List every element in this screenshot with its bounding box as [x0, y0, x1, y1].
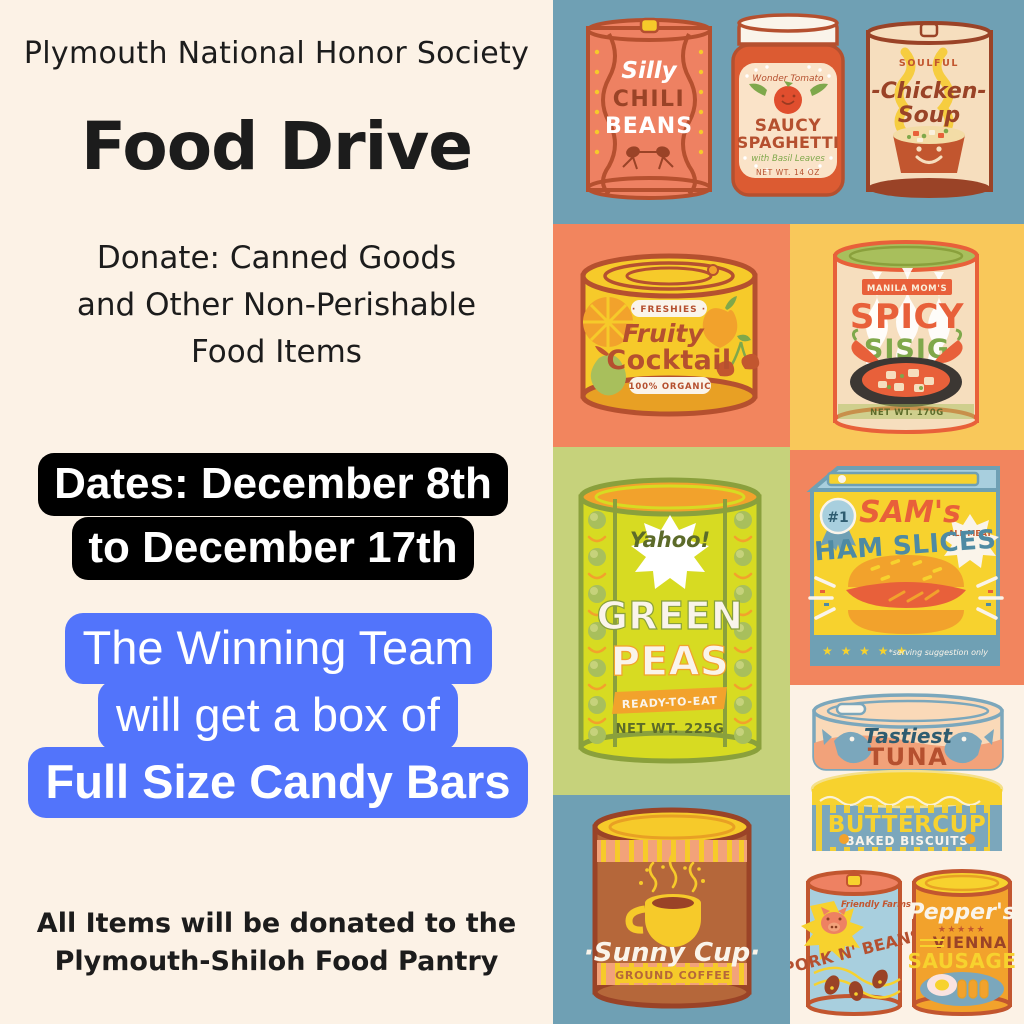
can-label-sausage: SAUSAGE	[908, 949, 1017, 973]
panel-coffee-illustration: ·Sunny Cup· GROUND COFFEE	[553, 795, 790, 1024]
can-label-silly: Silly	[621, 58, 677, 84]
can-label-ground-coffee: GROUND COFFEE	[615, 969, 731, 982]
can-label-disclaimer: *serving suggestion only	[889, 648, 989, 657]
sizzling-plate-icon	[850, 357, 962, 407]
can-spicy-sisig: MANILA MOM'S SPICY SISIG	[835, 242, 977, 432]
can-label-freshies: · FRESHIES ·	[632, 305, 706, 315]
can-sunny-cup-coffee: ·Sunny Cup· GROUND COFFEE	[584, 810, 760, 1006]
can-label-soulful: SOULFUL	[899, 58, 959, 69]
sausage-plate-icon	[920, 972, 1004, 1006]
canned-goods-collage: Silly CHILI BEANS	[553, 0, 1024, 1024]
can-label-soup: Soup	[898, 103, 960, 128]
organic-badge: 100% ORGANIC	[629, 377, 712, 394]
can-label-basil-leaves: with Basil Leaves	[751, 154, 825, 164]
can-buttercup-biscuits: BUTTERCUP BAKED BISCUITS	[812, 771, 1002, 851]
donate-line-2: and Other Non-Perishable	[10, 282, 543, 329]
can-chicken-soup: SOULFUL -Chicken- Soup	[868, 23, 991, 198]
organization-name: Plymouth National Honor Society	[0, 36, 553, 71]
prize-line-2: will get a box of	[98, 680, 458, 751]
can-label-spicy: SPICY	[850, 297, 964, 337]
panel-sisig-illustration: MANILA MOM'S SPICY SISIG	[790, 224, 1024, 450]
can-label-peppers: Pepper's	[908, 900, 1016, 925]
can-label-yahoo: Yahoo!	[630, 528, 710, 552]
page-title: Food Drive	[0, 108, 553, 185]
food-drive-poster: Plymouth National Honor Society Food Dri…	[0, 0, 1024, 1024]
can-label-green: GREEN	[597, 594, 744, 638]
donate-instructions: Donate: Canned Goods and Other Non-Peris…	[10, 235, 543, 376]
can-label-manila-moms: MANILA MOM'S	[867, 284, 947, 294]
can-label-friendly-farms: Friendly Farms	[841, 900, 911, 910]
can-label-number-one: #1	[827, 510, 848, 526]
prize-banner: The Winning Team will get a box of Full …	[8, 614, 548, 816]
panel-fruity-illustration: · FRESHIES · Fruity Cocktail 100% ORGANI…	[553, 224, 790, 447]
collage-panel-blue-coffee: ·Sunny Cup· GROUND COFFEE	[553, 795, 790, 1024]
can-label-sunny-cup: ·Sunny Cup·	[584, 938, 760, 968]
can-label-fruity: Fruity	[622, 319, 705, 348]
can-label-organic: 100% ORGANIC	[629, 382, 712, 392]
can-label-tuna: TUNA	[868, 743, 949, 771]
panel-peas-illustration: Yahoo! GREEN PEAS READY-TO-EAT NET WT. 2…	[553, 447, 790, 795]
collage-panel-cream-assorted: Tastiest TUNA	[790, 685, 1024, 1024]
footer-note: All Items will be donated to the Plymout…	[6, 905, 547, 982]
can-label-net-weight-spaghetti: NET WT. 14 OZ	[756, 168, 820, 177]
can-label-baked-biscuits: BAKED BISCUITS	[845, 834, 968, 848]
panel-assorted-illustration: Tastiest TUNA	[790, 685, 1024, 1024]
can-saucy-spaghetti: Wonder Tomato SAUCY SPAGHETTI with Basil…	[733, 15, 843, 195]
panel-blue-top-illustration: Silly CHILI BEANS	[553, 0, 1024, 224]
can-label-beans: BEANS	[605, 114, 693, 139]
collage-panel-salmon-ham: #1 ALL MEAT SAM's HAM SLICES	[790, 450, 1024, 685]
dates-banner: Dates: December 8th to December 17th	[8, 452, 538, 580]
dates-line-2: to December 17th	[72, 517, 473, 580]
prize-line-1: The Winning Team	[65, 613, 492, 684]
collage-panel-yellow-sisig: MANILA MOM'S SPICY SISIG	[790, 224, 1024, 450]
collage-panel-orange-fruity: · FRESHIES · Fruity Cocktail 100% ORGANI…	[553, 224, 790, 447]
can-pork-n-beans: Friendly Farms PORK N' BEANS	[790, 872, 924, 1014]
collage-panel-green-peas: Yahoo! GREEN PEAS READY-TO-EAT NET WT. 2…	[553, 447, 790, 795]
donate-line-1: Donate: Canned Goods	[10, 235, 543, 282]
donate-line-3: Food Items	[10, 329, 543, 376]
can-label-sams: SAM's	[859, 495, 961, 530]
can-label-peas: PEAS	[611, 639, 729, 685]
can-tastiest-tuna: Tastiest TUNA	[814, 695, 1002, 771]
can-chili-beans: Silly CHILI BEANS	[588, 19, 710, 198]
prize-line-3: Full Size Candy Bars	[28, 747, 529, 818]
can-label-chicken: -Chicken-	[871, 79, 986, 104]
can-green-peas: Yahoo! GREEN PEAS READY-TO-EAT NET WT. 2…	[581, 480, 759, 761]
can-label-net-weight-peas: NET WT. 225G	[616, 722, 725, 737]
footer-line-2: Plymouth-Shiloh Food Pantry	[6, 943, 547, 981]
poster-text-column: Plymouth National Honor Society Food Dri…	[0, 0, 553, 1024]
panel-ham-illustration: #1 ALL MEAT SAM's HAM SLICES	[790, 450, 1024, 685]
net-weight-band: NET WT. 170G	[838, 404, 974, 419]
can-fruity-cocktail: · FRESHIES · Fruity Cocktail 100% ORGANI…	[583, 256, 759, 414]
collage-panel-blue-top: Silly CHILI BEANS	[553, 0, 1024, 224]
can-ham-slices: #1 ALL MEAT SAM's HAM SLICES	[810, 468, 1002, 664]
can-label-net-weight-sisig: NET WT. 170G	[870, 408, 944, 418]
ground-coffee-band: GROUND COFFEE	[615, 967, 731, 983]
dates-line-1: Dates: December 8th	[38, 453, 508, 516]
can-label-spaghetti: SPAGHETTI	[737, 133, 839, 152]
footer-line-1: All Items will be donated to the	[6, 905, 547, 943]
can-label-cocktail: Cocktail	[606, 345, 731, 376]
can-label-chili: CHILI	[613, 87, 685, 112]
freshies-badge: · FRESHIES ·	[631, 300, 707, 317]
can-vienna-sausage: Pepper's ★★★★★ VIENNA SAUSAGE	[908, 871, 1017, 1014]
manila-moms-badge: MANILA MOM'S	[862, 279, 952, 295]
